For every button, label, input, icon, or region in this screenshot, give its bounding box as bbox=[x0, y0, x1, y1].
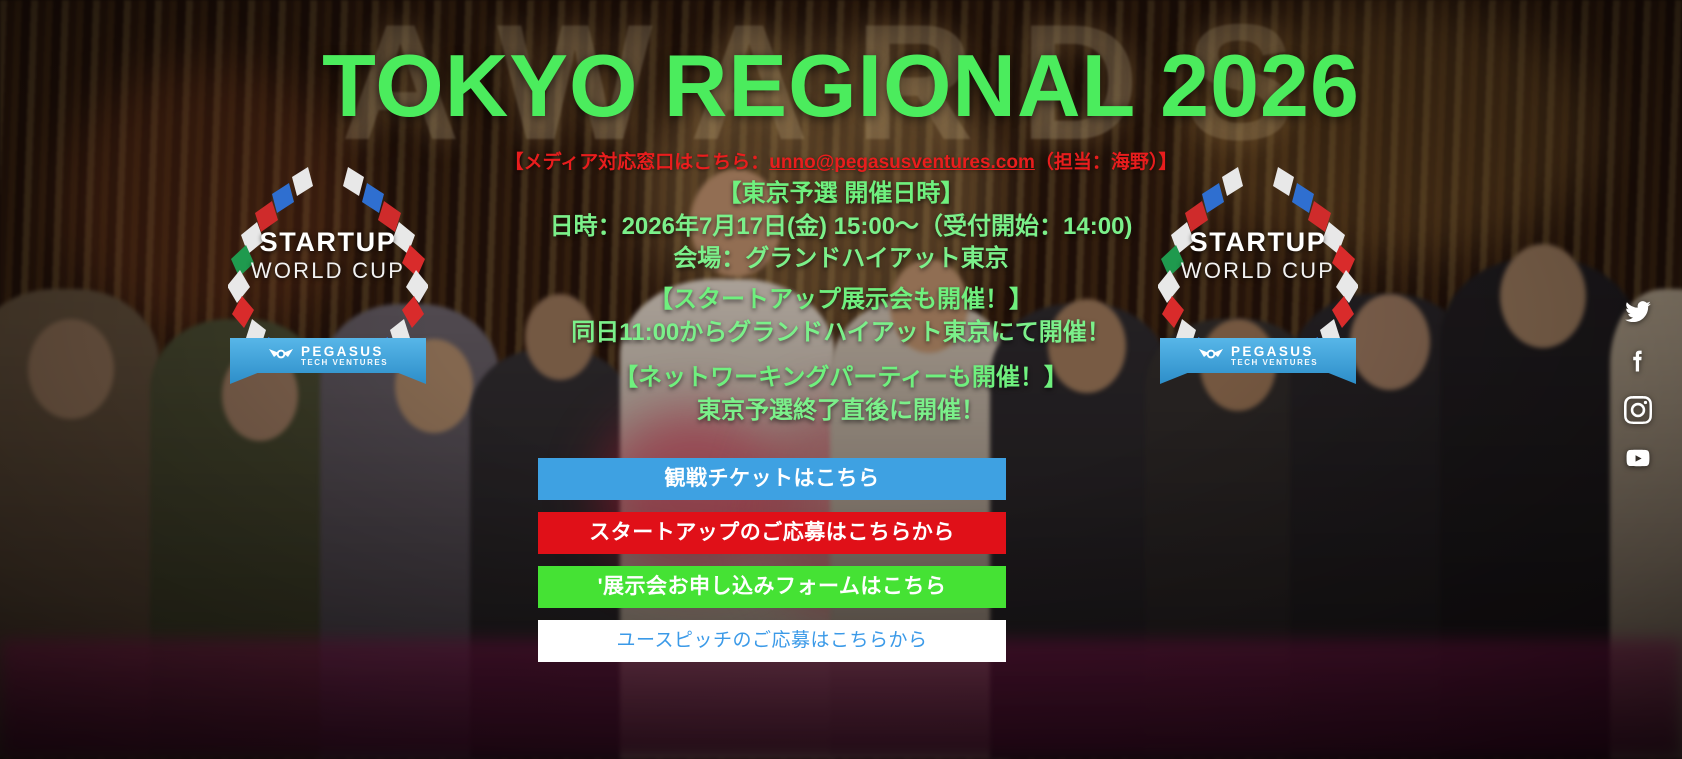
social-links-rail bbox=[1616, 290, 1660, 481]
expo-form-button[interactable]: '展示会お申し込みフォームはこちら bbox=[538, 566, 1006, 608]
youth-pitch-button[interactable]: ユースピッチのご応募はこちらから bbox=[538, 620, 1006, 662]
expo-heading: 【スタートアップ展示会も開催！】 bbox=[0, 284, 1682, 317]
cta-button-group: 観戦チケットはこちら スタートアップのご応募はこちらから '展示会お申し込みフォ… bbox=[538, 458, 1006, 662]
page-title: TOKYO REGIONAL 2026 bbox=[0, 40, 1682, 132]
facebook-icon[interactable] bbox=[1616, 339, 1660, 383]
media-contact-email-link[interactable]: unno@pegasusventures.com bbox=[769, 152, 1035, 173]
youtube-icon[interactable] bbox=[1616, 437, 1660, 481]
event-datetime-block: 【東京予選 開催日時】 日時：2026年7月17日(金) 15:00〜（受付開始… bbox=[0, 178, 1682, 276]
event-datetime-value: 日時：2026年7月17日(金) 15:00〜（受付開始：14:00) bbox=[0, 211, 1682, 244]
twitter-icon[interactable] bbox=[1616, 290, 1660, 334]
media-contact-suffix: （担当：海野）】 bbox=[1035, 152, 1178, 173]
expo-detail: 同日11:00からグランドハイアット東京にて開催！ bbox=[0, 317, 1682, 350]
startup-apply-button[interactable]: スタートアップのご応募はこちらから bbox=[538, 512, 1006, 554]
page-root: AWARDS bbox=[0, 0, 1682, 759]
event-venue-value: 会場：グランドハイアット東京 bbox=[0, 243, 1682, 276]
networking-party-block: 【ネットワーキングパーティーも開催！】 東京予選終了直後に開催！ bbox=[0, 362, 1682, 427]
party-heading: 【ネットワーキングパーティーも開催！】 bbox=[0, 362, 1682, 395]
hero-content: TOKYO REGIONAL 2026 【メディア対応窓口はこちら：unno@p… bbox=[0, 0, 1682, 759]
expo-block: 【スタートアップ展示会も開催！】 同日11:00からグランドハイアット東京にて開… bbox=[0, 284, 1682, 349]
ticket-button[interactable]: 観戦チケットはこちら bbox=[538, 458, 1006, 500]
media-contact-line: 【メディア対応窓口はこちら：unno@pegasusventures.com（担… bbox=[0, 150, 1682, 177]
party-detail: 東京予選終了直後に開催！ bbox=[0, 395, 1682, 428]
instagram-icon[interactable] bbox=[1616, 388, 1660, 432]
media-contact-prefix: 【メディア対応窓口はこちら： bbox=[505, 152, 770, 173]
event-datetime-heading: 【東京予選 開催日時】 bbox=[0, 178, 1682, 211]
